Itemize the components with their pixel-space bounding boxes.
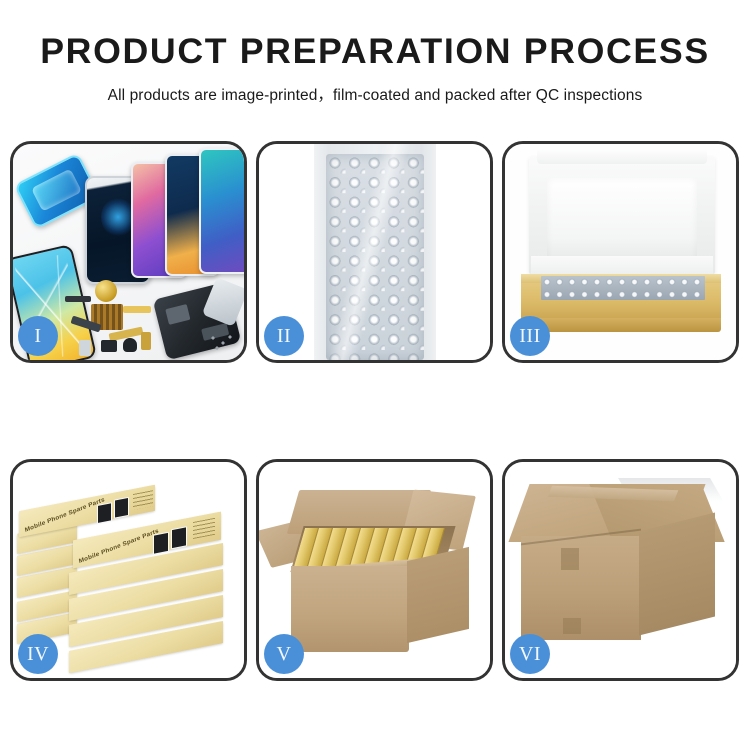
step-panel-3: III	[502, 141, 739, 363]
product-preparation-infographic: PRODUCT PREPARATION PROCESS All products…	[0, 0, 750, 750]
step-panel-6: VI	[502, 459, 739, 681]
step-panel-5: V	[256, 459, 493, 681]
header: PRODUCT PREPARATION PROCESS All products…	[0, 0, 750, 105]
box-screen-art	[97, 502, 112, 524]
sealed-carton-front-face	[521, 536, 641, 640]
step-badge-6: VI	[510, 634, 550, 674]
step-panel-4: Mobile Phone Spare Parts Mobile Phone Sp…	[10, 459, 247, 681]
screws-icon	[209, 334, 235, 352]
small-part-icon	[141, 332, 151, 350]
box-screen-art	[153, 532, 169, 555]
step-badge-2: II	[264, 316, 304, 356]
carton-flap-seam	[563, 618, 581, 634]
step-badge-1: I	[18, 316, 58, 356]
coil-part-icon	[95, 280, 117, 302]
flex-cable-icon	[123, 306, 151, 313]
small-part-icon	[123, 338, 137, 352]
box-side	[521, 318, 721, 332]
plastic-shine-overlay	[314, 144, 436, 360]
page-title: PRODUCT PREPARATION PROCESS	[0, 34, 750, 71]
carton-side-face	[407, 547, 469, 643]
kraft-inner-box-icon	[521, 274, 721, 322]
step-badge-4: IV	[18, 634, 58, 674]
flex-cable-icon	[65, 296, 91, 302]
box-screen-art	[114, 497, 129, 519]
phone-teal-icon	[199, 148, 244, 274]
step-badge-5: V	[264, 634, 304, 674]
process-steps-grid: I II III	[10, 141, 740, 681]
step-badge-3: III	[510, 316, 550, 356]
carton-flap-seam	[561, 548, 579, 570]
small-part-icon	[79, 340, 91, 356]
sealed-carton-side-face	[639, 513, 715, 636]
bubble-wrap-inside-icon	[541, 276, 705, 300]
box-screen-art	[171, 526, 187, 549]
carton-front-face	[291, 566, 409, 652]
step-panel-2: II	[256, 141, 493, 363]
step-panel-1: I	[10, 141, 247, 363]
small-part-icon	[101, 340, 117, 352]
page-subtitle: All products are image-printed，film-coat…	[0, 83, 750, 105]
